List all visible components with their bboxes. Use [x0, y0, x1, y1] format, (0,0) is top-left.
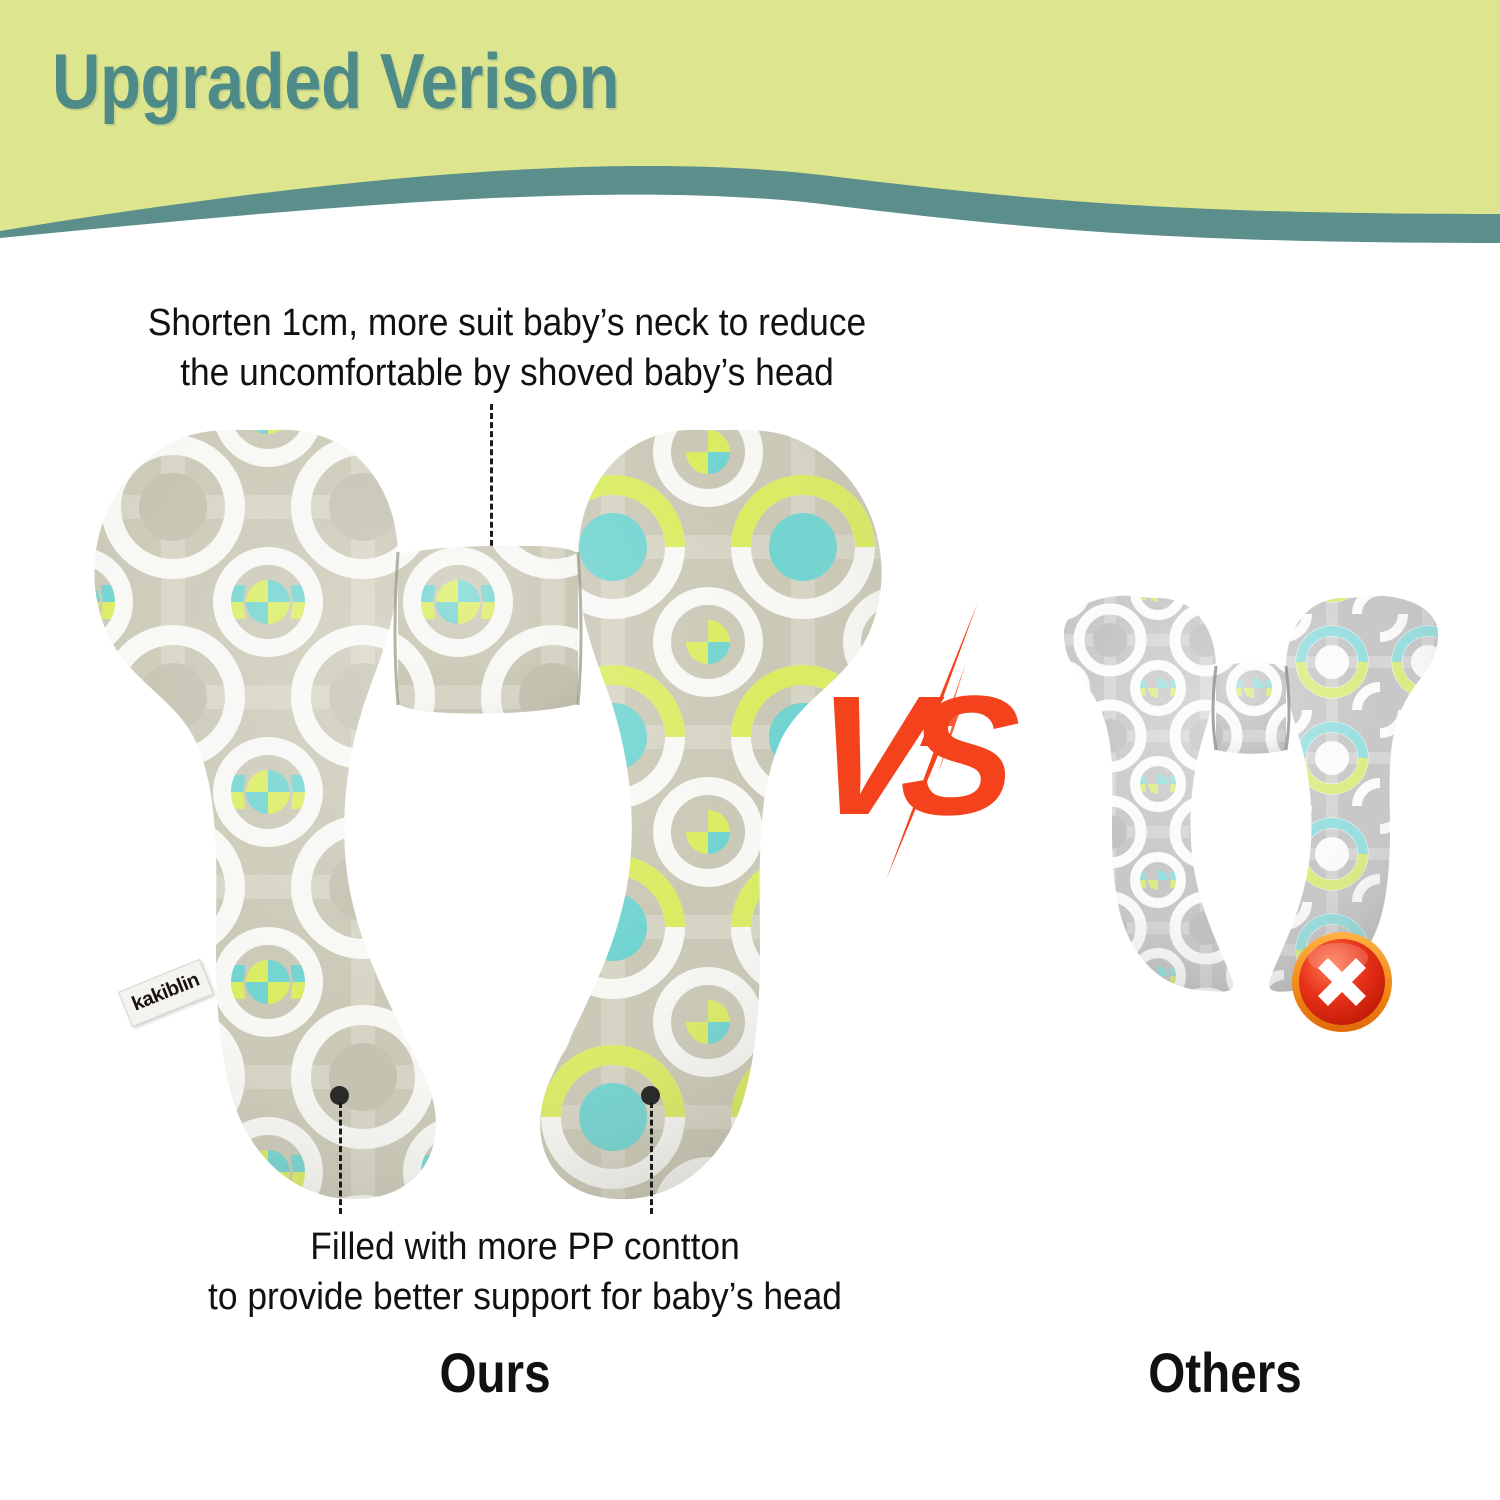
product-image-ours: [78, 412, 898, 1212]
label-others: Others: [1098, 1340, 1353, 1405]
leader-dash: [650, 1102, 653, 1214]
cross-icon: [1290, 930, 1394, 1034]
leader-dash: [339, 1102, 342, 1214]
vs-icon: V S: [828, 596, 1048, 886]
header-banner: Upgraded Verison: [0, 0, 1500, 250]
label-ours: Ours: [368, 1340, 623, 1405]
ours-pillow-illustration: [78, 412, 898, 1212]
svg-text:S: S: [893, 661, 1026, 850]
reject-badge: [1290, 930, 1394, 1034]
callout-text-bottom: Filled with more PP contton to provide b…: [139, 1222, 911, 1322]
others-seam-right: [1286, 666, 1289, 750]
others-seam-left: [1213, 666, 1216, 750]
vs-badge: V S: [828, 596, 1048, 886]
ours-seam-right: [578, 552, 581, 705]
callout-text-top: Shorten 1cm, more suit baby’s neck to re…: [93, 298, 921, 398]
page-title: Upgraded Verison: [52, 42, 619, 120]
ours-seam-left: [395, 552, 398, 705]
